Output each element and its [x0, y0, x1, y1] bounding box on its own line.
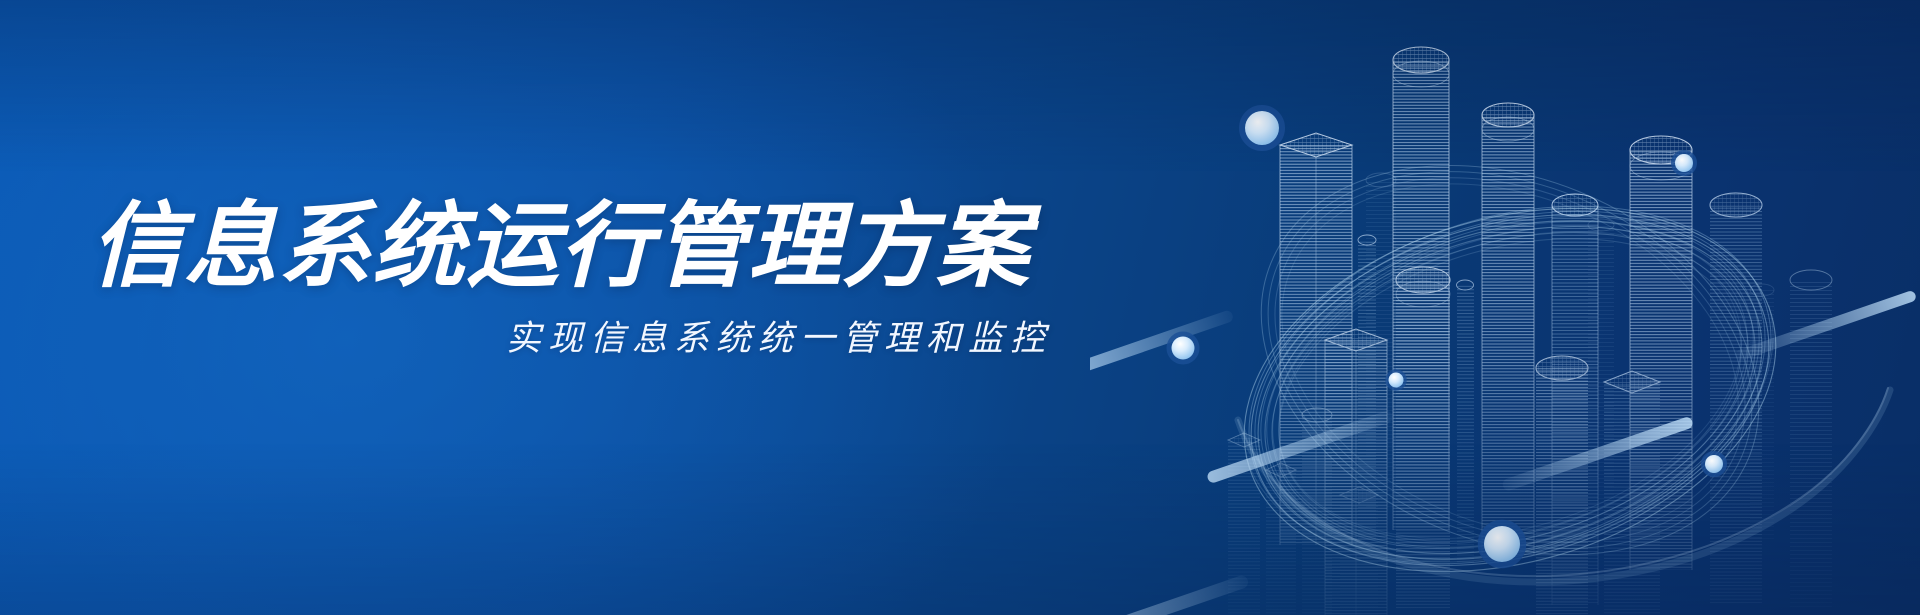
glow-dot-far-right — [1673, 152, 1695, 174]
glow-dot-bottom — [1481, 523, 1523, 565]
glow-dot-top-left — [1242, 108, 1282, 148]
glow-dot-mid-left — [1169, 334, 1197, 362]
page-title: 信息系统运行管理方案 — [90, 196, 1070, 296]
glow-dot-right-low — [1703, 453, 1725, 475]
page-subtitle: 实现信息系统统一管理和监控 — [90, 310, 1070, 361]
hero-banner: 信息系统运行管理方案 实现信息系统统一管理和监控 — [0, 0, 1920, 615]
glow-dot-center — [1387, 371, 1405, 389]
wireframe-city-illustration — [1090, 0, 1920, 615]
light-streak-lower-left — [1090, 574, 1250, 615]
hero-text-block: 信息系统运行管理方案 实现信息系统统一管理和监控 — [90, 196, 1070, 361]
light-streak-upper-left — [1090, 309, 1234, 385]
